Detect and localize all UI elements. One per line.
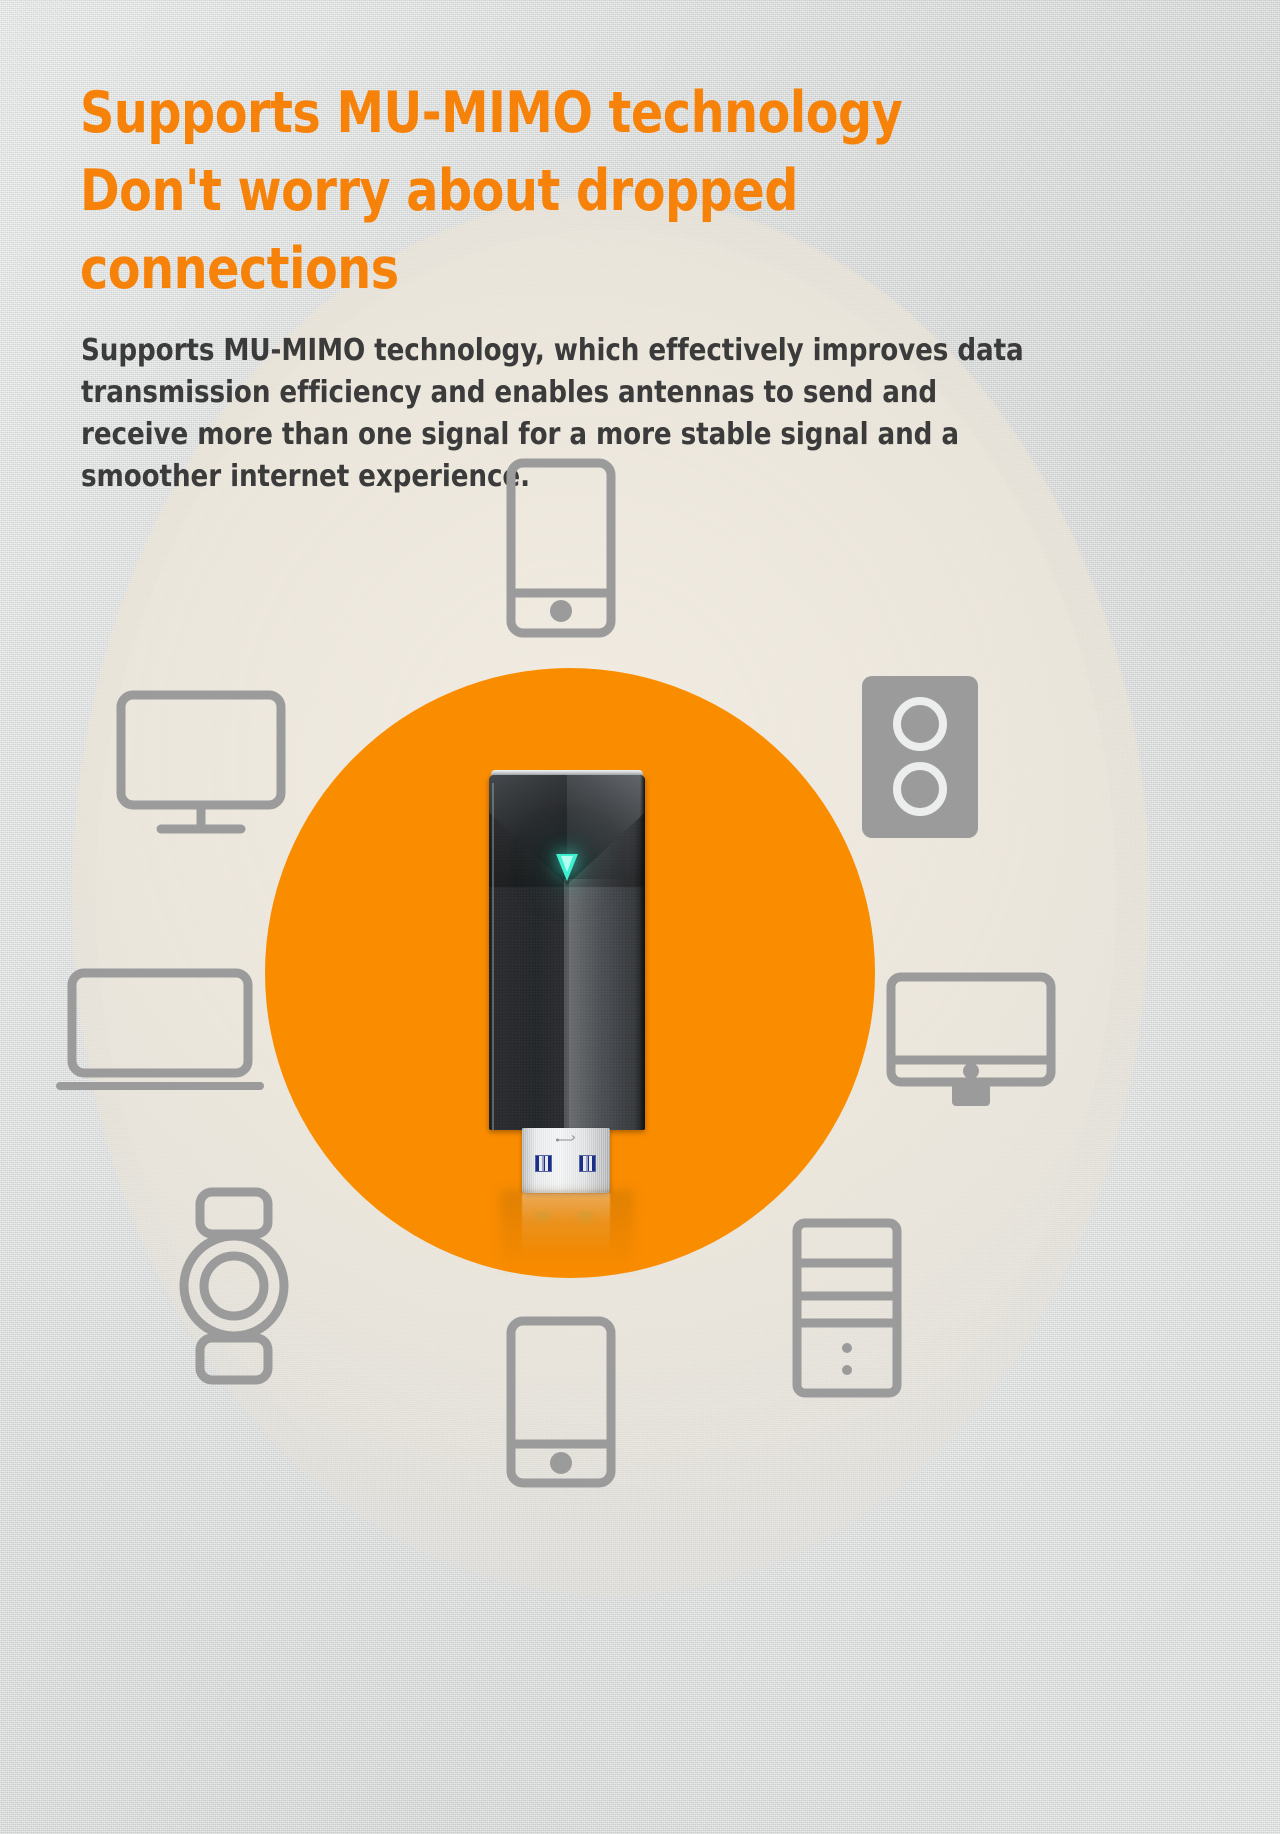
desktop-tower-icon (792, 1218, 902, 1398)
device-body (489, 775, 645, 1130)
device-edge-right (640, 775, 645, 1130)
status-led-core (561, 856, 573, 872)
device-sheen (569, 879, 627, 1130)
usb-pin-left-reflection (535, 1212, 550, 1226)
usb-trident-icon (555, 1134, 577, 1143)
smartwatch-icon (178, 1186, 290, 1386)
usb-connector (522, 1128, 610, 1193)
desktop-display-icon (116, 690, 286, 836)
tablet-icon (506, 1316, 616, 1488)
monitor-icon (886, 972, 1056, 1112)
speaker-icon (862, 676, 978, 838)
usb-pin-right (579, 1155, 596, 1172)
page-title: Supports MU-MIMO technology Don't worry … (80, 74, 1066, 308)
usb-pin-right-reflection (578, 1212, 593, 1226)
smartphone-icon (506, 458, 616, 638)
usb-pin-left (535, 1155, 552, 1172)
usb-wifi-adapter (489, 770, 645, 1130)
laptop-icon (60, 968, 260, 1096)
device-edge-highlight (492, 783, 494, 1130)
